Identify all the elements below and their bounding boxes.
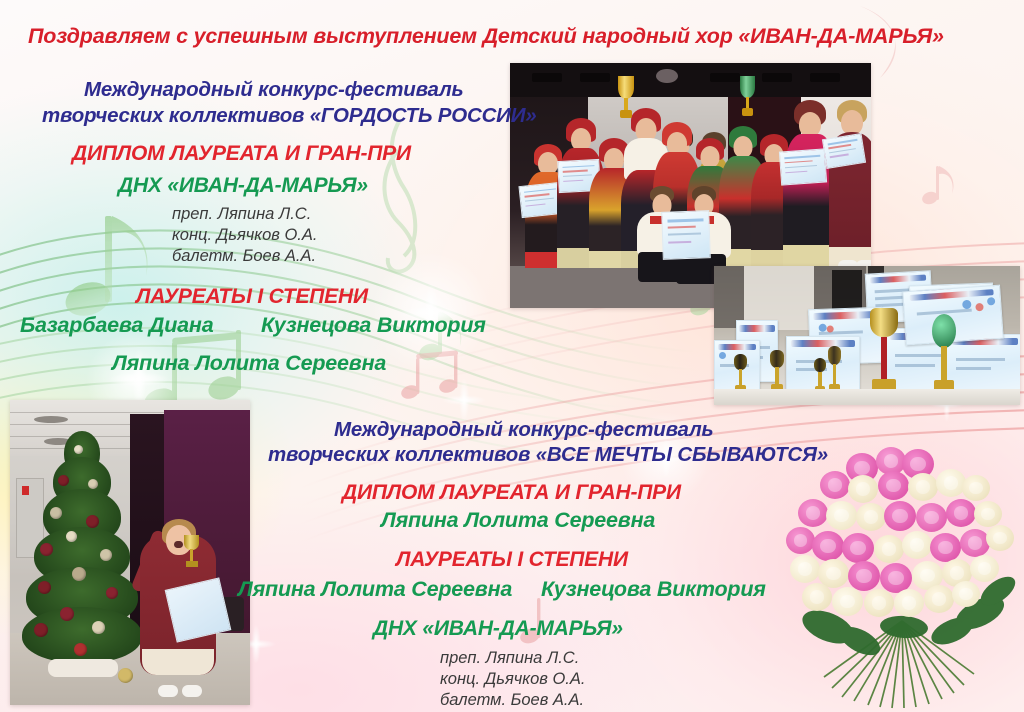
rose <box>884 501 916 531</box>
bottom-festival-line1: Международный конкурс-фестиваль <box>334 418 714 442</box>
photo-trophies-diplomas <box>714 266 1020 405</box>
bottom-award-title: ДИПЛОМ ЛАУРЕАТА И ГРАН-ПРИ <box>342 481 681 505</box>
rose <box>970 555 999 582</box>
top-laureate-1: Базарбаева Диана <box>20 313 213 338</box>
rose <box>842 533 874 563</box>
rose <box>946 499 976 527</box>
sparkle-icon <box>442 378 486 422</box>
top-staff-line-1: преп. Ляпина Л.С. <box>172 204 311 225</box>
bottom-grand-prix-name: Ляпина Лолита Сереевна <box>381 508 655 533</box>
rose <box>908 473 938 501</box>
bottom-staff-line-2: конц. Дьячков О.А. <box>440 669 585 690</box>
diploma-front <box>661 210 711 260</box>
rose <box>960 529 990 557</box>
bottom-staff-line-1: преп. Ляпина Л.С. <box>440 648 579 669</box>
rose <box>894 589 924 617</box>
rose <box>798 499 828 527</box>
rose <box>802 583 832 611</box>
photo-girl-christmas-tree <box>10 400 250 705</box>
top-staff-line-3: балетм. Боев А.А. <box>172 246 316 267</box>
bottom-laureate-1: Ляпина Лолита Сереевна <box>238 577 512 602</box>
rose <box>790 555 820 583</box>
top-laureate-2: Кузнецова Виктория <box>261 313 486 338</box>
top-festival-line2: творческих коллективов «ГОРДОСТЬ РОССИИ» <box>42 104 536 128</box>
music-note-green-large <box>61 216 147 321</box>
top-laureates-title: ЛАУРЕАТЫ I СТЕПЕНИ <box>136 285 368 309</box>
rose <box>812 531 844 561</box>
page-title: Поздравляем с успешным выступлением Детс… <box>28 24 996 49</box>
rose <box>924 585 954 613</box>
rose <box>986 525 1014 551</box>
rose <box>820 471 850 499</box>
top-laureate-3: Ляпина Лолита Сереевна <box>112 351 386 376</box>
music-note-pink-flourish <box>921 166 954 206</box>
rose <box>936 469 966 497</box>
bottom-laureate-2: Кузнецова Виктория <box>541 577 766 602</box>
rose-bouquet-image <box>784 445 1022 712</box>
rose <box>874 535 904 563</box>
girl-with-trophy <box>136 497 220 697</box>
rose <box>878 471 909 500</box>
rose <box>856 503 886 531</box>
top-festival-line1: Международный конкурс-фестиваль <box>84 78 464 102</box>
rose <box>902 531 932 559</box>
rose <box>916 503 947 532</box>
rose <box>962 475 990 501</box>
bottom-staff-line-3: балетм. Боев А.А. <box>440 690 584 711</box>
rose <box>848 561 880 591</box>
rose <box>826 501 857 530</box>
rose <box>974 501 1002 527</box>
rose <box>930 533 961 562</box>
sparkle-glow <box>370 252 490 372</box>
rose <box>864 589 894 617</box>
rose <box>848 475 878 503</box>
rose <box>832 587 863 616</box>
christmas-tree <box>22 431 142 667</box>
top-ensemble-name: ДНХ «ИВАН-ДА-МАРЬЯ» <box>118 174 368 198</box>
congratulation-poster: Поздравляем с успешным выступлением Детс… <box>0 0 1024 712</box>
rose <box>786 527 815 554</box>
bottom-festival-line2: творческих коллективов «ВСЕ МЕЧТЫ СБЫВАЮ… <box>268 443 828 467</box>
top-staff-line-2: конц. Дьячков О.А. <box>172 225 317 246</box>
rose <box>952 581 980 607</box>
bottom-ensemble-name: ДНХ «ИВАН-ДА-МАРЬЯ» <box>373 617 623 641</box>
top-award-title: ДИПЛОМ ЛАУРЕАТА И ГРАН-ПРИ <box>72 142 411 166</box>
bottom-laureates-title: ЛАУРЕАТЫ I СТЕПЕНИ <box>396 548 628 572</box>
